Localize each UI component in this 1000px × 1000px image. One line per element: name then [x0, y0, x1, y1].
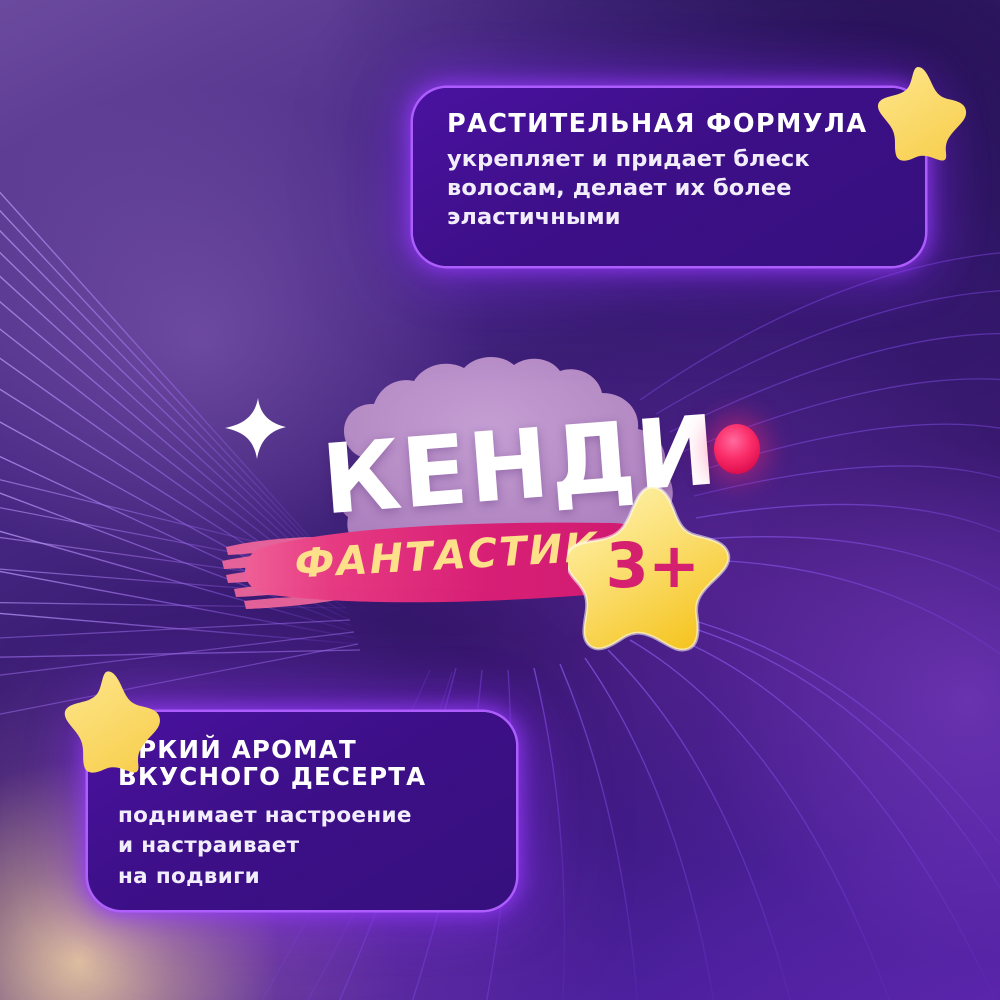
card-plant-formula: РАСТИТЕЛЬНАЯ ФОРМУЛА укрепляет и придает…: [413, 88, 925, 266]
star-icon-top-right: [868, 62, 968, 162]
body-line: эластичными: [447, 203, 895, 232]
body-line: волосам, делает их более: [447, 174, 895, 203]
card-plant-formula-body: укрепляет и придает блеск волосам, делае…: [447, 145, 895, 232]
brand-logo: КЕНДИ ФАНТАСТИК 3+: [210, 355, 770, 665]
age-badge-label: 3+: [568, 483, 733, 653]
star-icon-bottom-left: [54, 666, 162, 774]
card-plant-formula-heading: РАСТИТЕЛЬНАЯ ФОРМУЛА: [447, 110, 895, 139]
body-line: поднимает настроение: [118, 801, 492, 832]
heading-line: ЯРКИЙ АРОМАТ: [118, 736, 492, 763]
sparkle-icon: [222, 396, 288, 462]
pink-dot-icon: [714, 424, 760, 474]
card-dessert-aroma-heading: ЯРКИЙ АРОМАТ ВКУСНОГО ДЕСЕРТА: [118, 736, 492, 791]
heading-line: ВКУСНОГО ДЕСЕРТА: [118, 763, 492, 790]
poster-canvas: КЕНДИ ФАНТАСТИК 3+ РАСТИТЕЛЬНАЯ ФОРМУЛА …: [0, 0, 1000, 1000]
body-line: на подвиги: [118, 862, 492, 893]
body-line: и настраивает: [118, 831, 492, 862]
card-dessert-aroma-body: поднимает настроение и настраивает на по…: [118, 801, 492, 893]
body-line: укрепляет и придает блеск: [447, 145, 895, 174]
